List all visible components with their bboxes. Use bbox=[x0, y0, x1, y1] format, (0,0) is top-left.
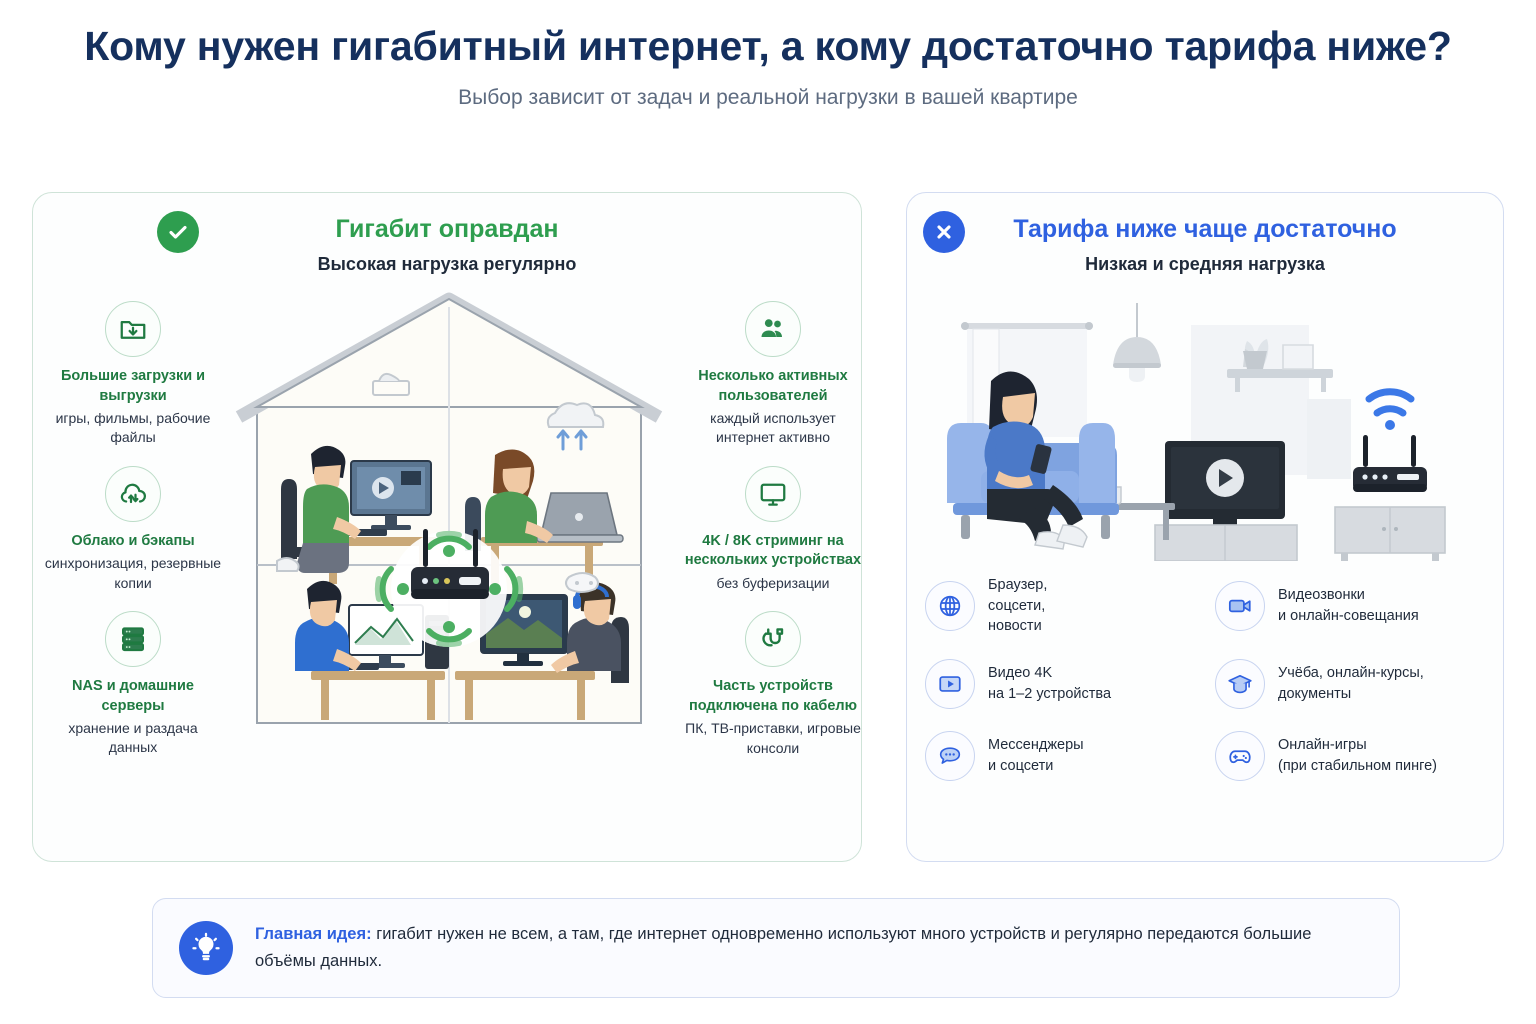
page-subtitle: Выбор зависит от задач и реальной нагруз… bbox=[0, 86, 1536, 110]
feature-item: Часть устройств подключена по кабелю ПК,… bbox=[683, 611, 862, 758]
key-idea-callout: Главная идея: гигабит нужен не всем, а т… bbox=[152, 898, 1400, 998]
usage-tiles: Браузер, соцсети, новости Видеозвонки bbox=[925, 575, 1491, 781]
key-idea-lead: Главная идея: bbox=[255, 925, 372, 943]
tile-line-2: и онлайн-совещания bbox=[1278, 606, 1419, 627]
feature-desc: игры, фильмы, рабочие файлы bbox=[43, 409, 223, 448]
panel-gigabit-justified: Гигабит оправдан Высокая нагрузка регуля… bbox=[32, 192, 862, 862]
house-cutaway-illustration bbox=[223, 289, 675, 859]
tile-browser-social-news: Браузер, соцсети, новости bbox=[925, 575, 1201, 637]
tile-line-1: Видеозвонки bbox=[1278, 585, 1419, 606]
tile-line-2: на 1–2 устройства bbox=[988, 684, 1111, 705]
feature-desc: синхронизация, резервные копии bbox=[43, 554, 223, 593]
living-room-illustration bbox=[929, 289, 1485, 561]
tile-line-2: документы bbox=[1278, 684, 1424, 705]
tile-line-2: (при стабильном пинге) bbox=[1278, 756, 1437, 777]
infographic-page: Кому нужен гигабитный интернет, а кому д… bbox=[0, 0, 1536, 1024]
server-rack-icon bbox=[105, 611, 161, 667]
tile-label: Видеозвонки и онлайн-совещания bbox=[1278, 585, 1419, 626]
tile-video-calls: Видеозвонки и онлайн-совещания bbox=[1215, 575, 1491, 637]
feature-item: Облако и бэкапы синхронизация, резервные… bbox=[43, 466, 223, 593]
feature-item: Большие загрузки и выгрузки игры, фильмы… bbox=[43, 301, 223, 448]
tile-line-1: Браузер, bbox=[988, 575, 1047, 596]
tile-label: Онлайн-игры (при стабильном пинге) bbox=[1278, 735, 1437, 776]
tile-line-2: и соцсети bbox=[988, 756, 1084, 777]
key-idea-body: гигабит нужен не всем, а там, где интерн… bbox=[255, 925, 1311, 970]
tile-line-1: Учёба, онлайн-курсы, bbox=[1278, 663, 1424, 684]
tile-label: Учёба, онлайн-курсы, документы bbox=[1278, 663, 1424, 704]
feature-desc: хранение и раздача данных bbox=[43, 719, 223, 758]
tile-line-3: новости bbox=[988, 616, 1047, 637]
features-column-right: Несколько активных пользователей каждый … bbox=[683, 289, 862, 859]
page-title: Кому нужен гигабитный интернет, а кому д… bbox=[0, 20, 1536, 72]
play-box-icon bbox=[925, 659, 975, 709]
tile-messengers: Мессенджеры и соцсети bbox=[925, 731, 1201, 781]
right-panel-title: Тарифа ниже чаще достаточно bbox=[907, 215, 1503, 244]
feature-item: 4K / 8K стриминг на нескольких устройств… bbox=[683, 466, 862, 593]
x-circle-icon bbox=[923, 211, 965, 253]
tile-line-1: Видео 4K bbox=[988, 663, 1111, 684]
tile-label: Мессенджеры и соцсети bbox=[988, 735, 1084, 776]
gamepad-icon bbox=[1215, 731, 1265, 781]
chat-bubble-icon bbox=[925, 731, 975, 781]
feature-desc: без буферизации bbox=[683, 574, 862, 593]
video-player-icon bbox=[1215, 581, 1265, 631]
right-panel-subtitle: Низкая и средняя нагрузка bbox=[907, 254, 1503, 275]
ethernet-cable-icon bbox=[745, 611, 801, 667]
feature-title: NAS и домашние серверы bbox=[43, 677, 223, 716]
left-panel-subtitle: Высокая нагрузка регулярно bbox=[33, 254, 861, 275]
feature-title: 4K / 8K стриминг на нескольких устройств… bbox=[683, 532, 862, 571]
feature-title: Облако и бэкапы bbox=[43, 532, 223, 552]
tile-line-1: Мессенджеры bbox=[988, 735, 1084, 756]
feature-title: Несколько активных пользователей bbox=[683, 367, 862, 406]
tile-online-games: Онлайн-игры (при стабильном пинге) bbox=[1215, 731, 1491, 781]
tile-line-2: соцсети, bbox=[988, 596, 1047, 617]
cloud-sync-icon bbox=[105, 466, 161, 522]
tile-label: Видео 4K на 1–2 устройства bbox=[988, 663, 1111, 704]
feature-item: Несколько активных пользователей каждый … bbox=[683, 301, 862, 448]
tile-line-1: Онлайн-игры bbox=[1278, 735, 1437, 756]
left-panel-header: Гигабит оправдан Высокая нагрузка регуля… bbox=[33, 193, 861, 275]
feature-desc: каждый использует интернет активно bbox=[683, 409, 862, 448]
users-group-icon bbox=[745, 301, 801, 357]
monitor-icon bbox=[745, 466, 801, 522]
tile-study-courses: Учёба, онлайн-курсы, документы bbox=[1215, 659, 1491, 709]
key-idea-text: Главная идея: гигабит нужен не всем, а т… bbox=[255, 921, 1373, 974]
panels-row: Гигабит оправдан Высокая нагрузка регуля… bbox=[32, 192, 1504, 862]
check-circle-icon bbox=[157, 211, 199, 253]
left-panel-body: Большие загрузки и выгрузки игры, фильмы… bbox=[33, 289, 862, 859]
tile-label: Браузер, соцсети, новости bbox=[988, 575, 1047, 637]
graduation-cap-icon bbox=[1215, 659, 1265, 709]
lightbulb-icon bbox=[179, 921, 233, 975]
tile-video-4k: Видео 4K на 1–2 устройства bbox=[925, 659, 1201, 709]
folder-download-icon bbox=[105, 301, 161, 357]
feature-title: Часть устройств подключена по кабелю bbox=[683, 677, 862, 716]
globe-icon bbox=[925, 581, 975, 631]
feature-desc: ПК, ТВ-приставки, игровые консоли bbox=[683, 719, 862, 758]
features-column-left: Большие загрузки и выгрузки игры, фильмы… bbox=[43, 289, 223, 859]
feature-item: NAS и домашние серверы хранение и раздач… bbox=[43, 611, 223, 758]
feature-title: Большие загрузки и выгрузки bbox=[43, 367, 223, 406]
right-panel-header: Тарифа ниже чаще достаточно Низкая и сре… bbox=[907, 193, 1503, 275]
page-header: Кому нужен гигабитный интернет, а кому д… bbox=[0, 0, 1536, 110]
panel-lower-tariff-enough: Тарифа ниже чаще достаточно Низкая и сре… bbox=[906, 192, 1504, 862]
